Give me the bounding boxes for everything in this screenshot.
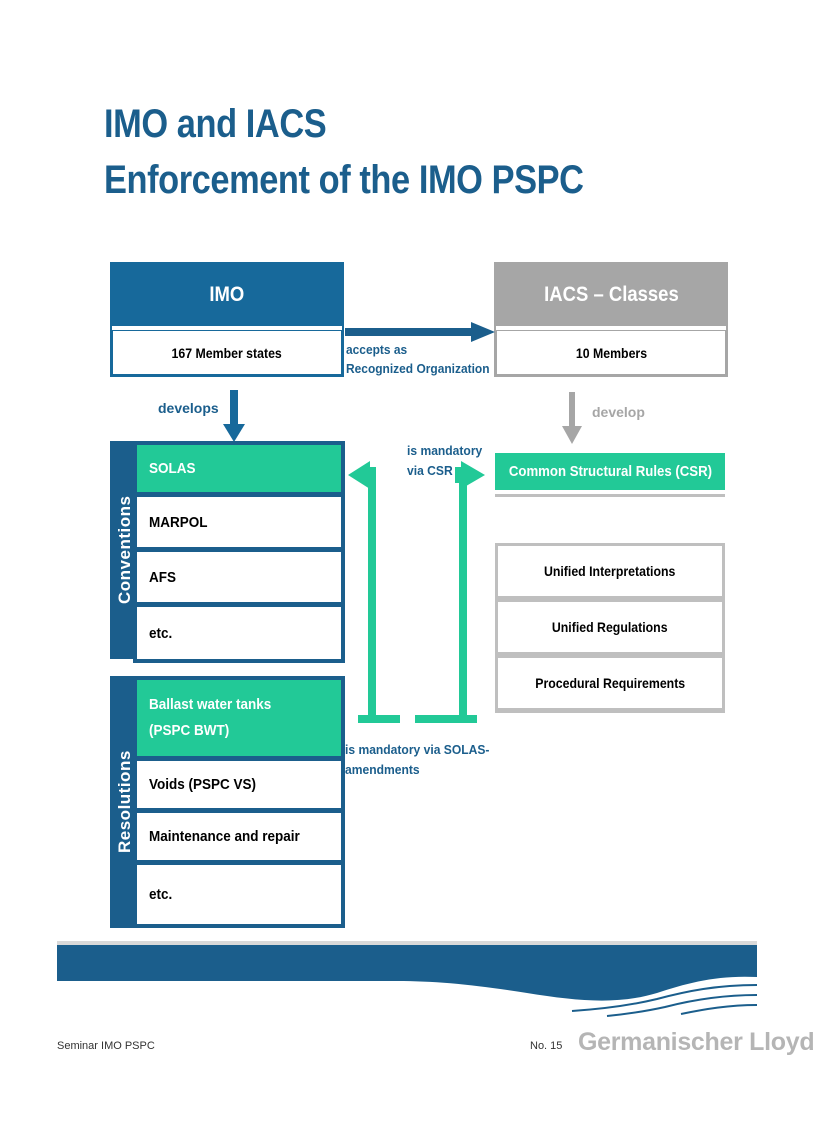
iacs-header-label: IACS – Classes [544, 283, 679, 307]
convention-row-label: MARPOL [149, 514, 208, 531]
convention-row-label: SOLAS [149, 460, 196, 477]
develop-arrow-icon [560, 392, 584, 444]
mandatory-via-csr-label: is mandatory via CSR [407, 441, 497, 481]
develop-label: develop [592, 404, 645, 420]
resolution-row-label: etc. [149, 886, 172, 903]
mandatory-via-solas-line-1: is mandatory via SOLAS- [345, 740, 503, 760]
csr-box[interactable]: Common Structural Rules (CSR) [495, 453, 725, 490]
resolution-row-voids[interactable]: Voids (PSPC VS) [137, 761, 341, 808]
page-title: IMO and IACS Enforcement of the IMO PSPC [104, 96, 744, 208]
iacs-members-label: 10 Members [575, 345, 646, 361]
resolution-row-label: Maintenance and repair [149, 828, 300, 845]
mandatory-via-csr-line-1: is mandatory [407, 441, 491, 461]
iacs-members: 10 Members [496, 330, 726, 375]
accepts-as-arrow-icon [345, 322, 495, 342]
iacs-output-row-procedural-requirements[interactable]: Procedural Requirements [498, 658, 722, 708]
convention-row-label: AFS [149, 569, 176, 586]
accepts-as-label: accepts as Recognized Organization [346, 340, 496, 378]
resolution-row-maintenance[interactable]: Maintenance and repair [137, 813, 341, 860]
conventions-tab-label: Conventions [115, 496, 135, 604]
iacs-output-row-unified-regulations[interactable]: Unified Regulations [498, 602, 722, 652]
resolution-row-etc[interactable]: etc. [137, 865, 341, 924]
imo-members: 167 Member states [112, 330, 342, 375]
resolutions-tab-label: Resolutions [115, 751, 135, 854]
footer-brand-logo: Germanischer Lloyd [578, 1028, 814, 1057]
title-line-1: IMO and IACS [104, 96, 654, 152]
title-line-2: Enforcement of the IMO PSPC [104, 152, 654, 208]
conventions-stack: SOLAS MARPOL AFS etc. [133, 441, 345, 663]
imo-members-label: 167 Member states [172, 345, 282, 361]
iacs-outputs-stack: Unified Interpretations Unified Regulati… [495, 543, 725, 713]
mandatory-via-solas-line-2: amendments [345, 760, 503, 780]
iacs-output-label: Procedural Requirements [535, 675, 685, 691]
slide-canvas: IMO and IACS Enforcement of the IMO PSPC… [0, 0, 816, 1123]
iacs-output-label: Unified Regulations [552, 619, 668, 635]
iacs-output-label: Unified Interpretations [544, 563, 675, 579]
resolution-row-label-line-2: (PSPC BWT) [149, 718, 229, 744]
resolution-row-ballast-water-tanks[interactable]: Ballast water tanks (PSPC BWT) [137, 680, 341, 756]
convention-row-marpol[interactable]: MARPOL [137, 497, 341, 547]
resolution-row-label: Voids (PSPC VS) [149, 776, 256, 793]
imo-header: IMO [112, 264, 342, 326]
resolution-row-label-line-1: Ballast water tanks [149, 692, 271, 718]
csr-mandatory-connector-arrow-icon [395, 455, 505, 730]
mandatory-via-csr-line-2: via CSR [407, 461, 491, 481]
iacs-output-row-unified-interpretations[interactable]: Unified Interpretations [498, 546, 722, 596]
accepts-as-line-1: accepts as [346, 340, 484, 359]
iacs-header: IACS – Classes [496, 264, 726, 326]
csr-label: Common Structural Rules (CSR) [508, 463, 711, 480]
mandatory-via-solas-label: is mandatory via SOLAS- amendments [345, 740, 515, 780]
accepts-as-line-2: Recognized Organization [346, 359, 484, 378]
convention-row-afs[interactable]: AFS [137, 552, 341, 602]
convention-row-solas[interactable]: SOLAS [137, 445, 341, 492]
convention-row-label: etc. [149, 625, 172, 642]
convention-row-etc[interactable]: etc. [137, 607, 341, 659]
develops-label: develops [158, 400, 219, 416]
develops-arrow-icon [222, 390, 246, 442]
imo-header-label: IMO [210, 283, 245, 307]
footer-page-number: No. 15 [530, 1040, 562, 1052]
csr-underline-divider [495, 494, 725, 497]
footer-wave-graphic [57, 941, 757, 1019]
resolutions-stack: Ballast water tanks (PSPC BWT) Voids (PS… [133, 676, 345, 928]
footer-left-text: Seminar IMO PSPC [57, 1040, 155, 1052]
solas-mandatory-connector-arrow-icon [340, 455, 400, 730]
